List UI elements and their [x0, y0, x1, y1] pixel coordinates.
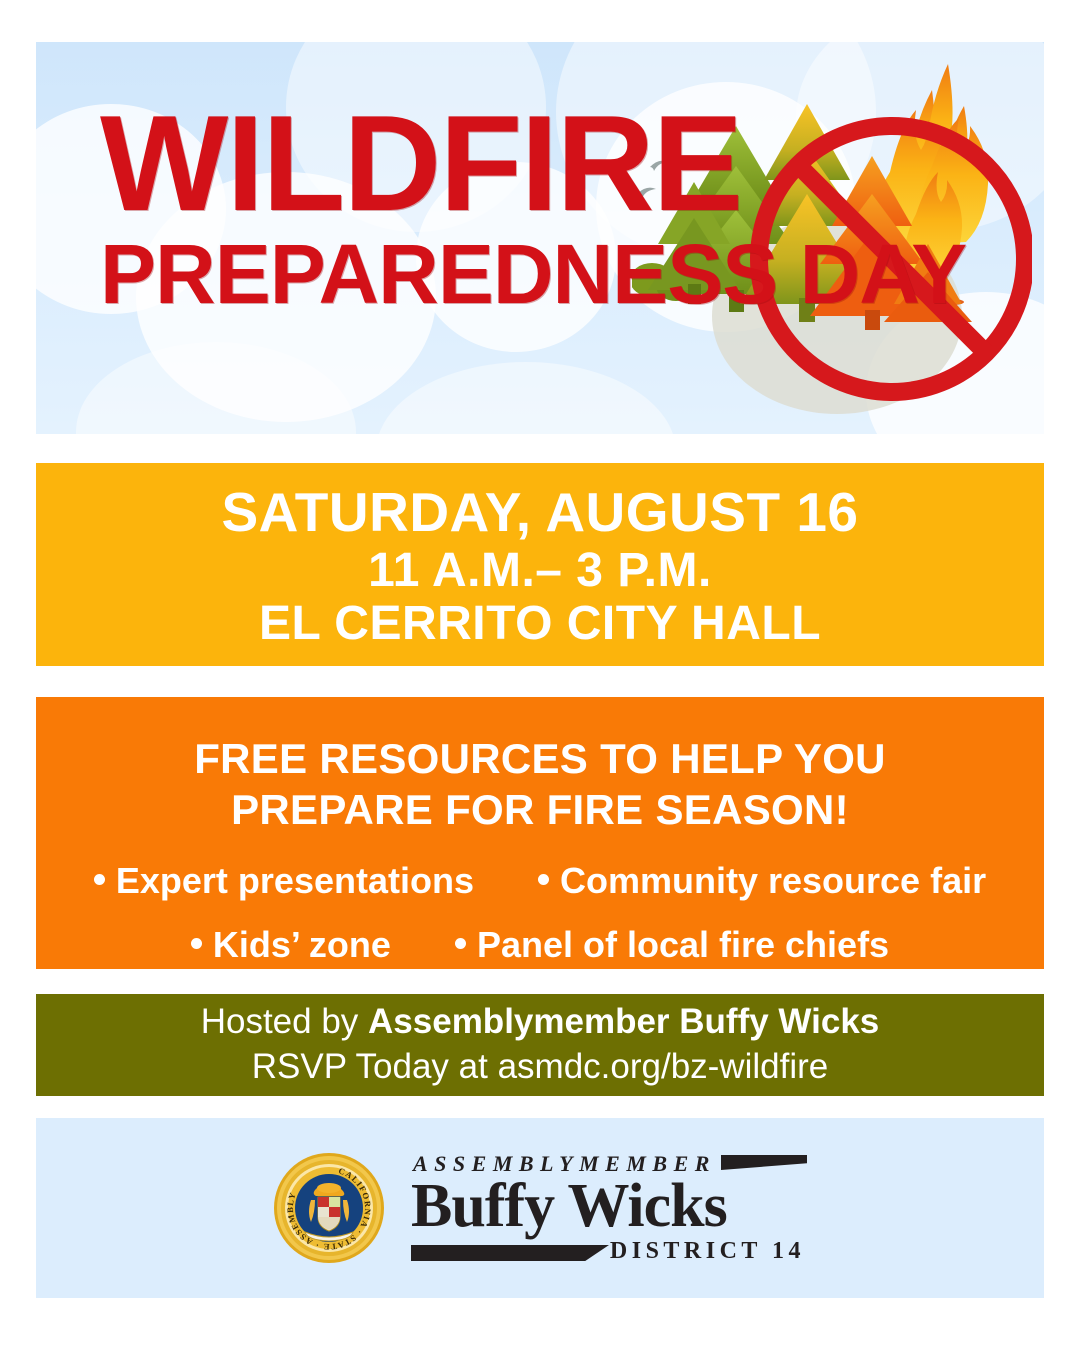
event-date-band: SATURDAY, AUGUST 16 11 A.M.– 3 P.M. EL C… [36, 463, 1044, 666]
bullet-dot-icon [191, 938, 202, 949]
buffy-wicks-logo: CALIFORNIA · STATE · ASSEMBLY [273, 1149, 807, 1267]
host-rsvp-band: Hosted by Assemblymember Buffy Wicks RSV… [36, 994, 1044, 1096]
page-subtitle: PREPAREDNESS DAY [100, 232, 720, 316]
wordmark-name: Buffy Wicks [411, 1175, 727, 1237]
event-location: EL CERRITO CITY HALL [259, 597, 821, 651]
hosted-by-name: Assemblymember Buffy Wicks [368, 1002, 879, 1041]
bullet-row: Expert presentations Community resource … [36, 861, 1044, 901]
wordmark-bar-top [721, 1155, 807, 1170]
list-item: Panel of local fire chiefs [455, 925, 889, 965]
list-item: Kids’ zone [191, 925, 391, 965]
list-item-label: Expert presentations [116, 861, 474, 901]
list-item: Expert presentations [94, 861, 474, 901]
resources-bullet-list: Expert presentations Community resource … [36, 861, 1044, 988]
resources-headline-line-1: FREE RESOURCES TO HELP YOU [194, 733, 886, 784]
list-item: Community resource fair [538, 861, 986, 901]
list-item-label: Kids’ zone [213, 925, 391, 965]
bullet-dot-icon [455, 938, 466, 949]
page-title: WILDFIRE [100, 100, 720, 228]
hosted-by-prefix: Hosted by [201, 1002, 368, 1041]
rsvp-line[interactable]: RSVP Today at asmdc.org/bz-wildfire [252, 1045, 828, 1090]
wildfire-preparedness-day-flyer: WILDFIRE PREPAREDNESS DAY [0, 0, 1080, 1350]
event-time: 11 A.M.– 3 P.M. [368, 544, 712, 598]
bullet-dot-icon [538, 874, 549, 885]
wordmark-bar-bottom [411, 1245, 609, 1261]
list-item-label: Community resource fair [560, 861, 986, 901]
list-item-label: Panel of local fire chiefs [477, 925, 889, 965]
event-date: SATURDAY, AUGUST 16 [221, 482, 858, 544]
logo-band: CALIFORNIA · STATE · ASSEMBLY [36, 1118, 1044, 1298]
resources-headline-line-2: PREPARE FOR FIRE SEASON! [231, 784, 849, 835]
poster-title-block: WILDFIRE PREPAREDNESS DAY [100, 100, 720, 316]
hero-banner: WILDFIRE PREPAREDNESS DAY [36, 42, 1044, 434]
california-state-assembly-seal-icon: CALIFORNIA · STATE · ASSEMBLY [273, 1152, 385, 1264]
hosted-by-line: Hosted by Assemblymember Buffy Wicks [201, 1000, 880, 1045]
wordmark-district: DISTRICT 14 [610, 1238, 805, 1265]
bullet-dot-icon [94, 874, 105, 885]
buffy-wicks-wordmark: ASSEMBLYMEMBER Buffy Wicks DISTRICT 14 [411, 1149, 807, 1267]
cloud-shape [376, 362, 676, 434]
bullet-row: Kids’ zone Panel of local fire chiefs [36, 925, 1044, 965]
resources-band: FREE RESOURCES TO HELP YOU PREPARE FOR F… [36, 697, 1044, 969]
